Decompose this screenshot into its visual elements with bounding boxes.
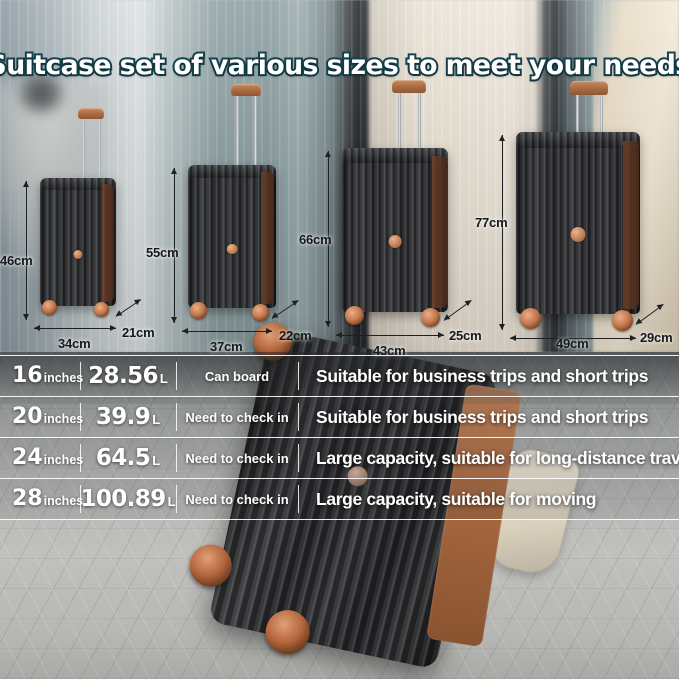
cell-boarding: Need to check in: [176, 492, 298, 507]
column-divider: [298, 485, 299, 513]
dimension-label-depth-24: 25cm: [449, 328, 481, 343]
suitcase-side-trim: [432, 156, 447, 308]
suitcase-lock-icon: [571, 227, 586, 242]
suitcase-wheel: [520, 308, 541, 329]
column-divider: [298, 403, 299, 431]
cell-boarding: Need to check in: [176, 410, 298, 425]
page-title: Suitcase set of various sizes to meet yo…: [0, 50, 679, 81]
suitcase-wheel: [421, 308, 440, 327]
table-row: 16 inches 28.56 L Can board Suitable for…: [0, 356, 679, 397]
size-value: 28: [12, 488, 43, 510]
telescoping-pole: [82, 116, 85, 180]
suitcase-wheel: [252, 304, 269, 321]
telescoping-pole: [98, 116, 101, 180]
cell-volume: 39.9 L: [80, 406, 176, 429]
column-divider: [80, 485, 81, 513]
suitcase-16-inch: [36, 178, 122, 326]
size-unit: inches: [44, 454, 84, 467]
cell-boarding: Can board: [176, 369, 298, 384]
dimension-label-depth-28: 29cm: [640, 330, 672, 345]
column-divider: [176, 485, 177, 513]
table-row: 24 inches 64.5 L Need to check in Large …: [0, 438, 679, 479]
volume-value: 64.5: [96, 447, 150, 470]
dimension-label-height-24: 66cm: [299, 232, 331, 247]
size-value: 20: [12, 406, 43, 428]
size-unit: inches: [44, 372, 84, 385]
telescoping-pole: [576, 92, 579, 134]
dimension-arrow-width-20: [182, 327, 272, 336]
column-divider: [298, 362, 299, 390]
dimension-label-width-16: 34cm: [58, 336, 90, 351]
column-divider: [80, 362, 81, 390]
size-unit: inches: [44, 495, 84, 508]
size-unit: inches: [44, 413, 84, 426]
column-divider: [80, 444, 81, 472]
dimension-label-height-20: 55cm: [146, 245, 178, 260]
telescoping-pole: [398, 90, 401, 150]
column-divider: [298, 444, 299, 472]
column-divider: [176, 362, 177, 390]
table-row: 20 inches 39.9 L Need to check in Suitab…: [0, 397, 679, 438]
dimension-label-width-28: 49cm: [556, 336, 588, 351]
dimension-label-width-20: 37cm: [210, 339, 242, 354]
cell-description: Large capacity, suitable for moving: [298, 489, 679, 510]
column-divider: [176, 403, 177, 431]
telescoping-pole: [418, 90, 421, 150]
cell-volume: 100.89 L: [80, 488, 176, 511]
cell-size: 24 inches: [0, 447, 80, 469]
suitcase-ribs: [516, 132, 640, 314]
suitcase-20-inch: [184, 165, 284, 327]
headline-band: Suitcase set of various sizes to meet yo…: [0, 44, 679, 86]
spec-table: 16 inches 28.56 L Can board Suitable for…: [0, 355, 679, 520]
column-divider: [80, 403, 81, 431]
dimension-label-height-16: 46cm: [0, 253, 32, 268]
column-divider: [176, 444, 177, 472]
cell-volume: 64.5 L: [80, 447, 176, 470]
cell-boarding: Need to check in: [176, 451, 298, 466]
dimension-label-depth-20: 22cm: [279, 328, 311, 343]
telescoping-pole: [236, 93, 239, 167]
cell-description: Large capacity, suitable for long-distan…: [298, 448, 679, 469]
volume-unit: L: [152, 413, 160, 426]
suitcase-wheel: [345, 306, 364, 325]
cell-size: 20 inches: [0, 406, 80, 428]
table-row: 28 inches 100.89 L Need to check in Larg…: [0, 479, 679, 520]
suitcase-side-trim: [623, 141, 639, 309]
volume-unit: L: [160, 372, 168, 385]
suitcase-side-trim: [261, 172, 274, 304]
cell-size: 28 inches: [0, 488, 80, 510]
dimension-label-depth-16: 21cm: [122, 325, 154, 340]
infographic-canvas: 46cm 34cm 21cm 55cm 37cm 22cm: [0, 0, 679, 679]
cell-description: Suitable for business trips and short tr…: [298, 407, 679, 428]
dimension-arrow-height-28: [498, 135, 507, 330]
telescoping-pole: [254, 93, 257, 167]
cell-size: 16 inches: [0, 365, 80, 387]
suitcase-24-inch: [338, 148, 458, 330]
suitcase-wheel: [42, 300, 57, 315]
cell-description: Suitable for business trips and short tr…: [298, 366, 679, 387]
volume-value: 39.9: [96, 406, 150, 429]
suitcase-wheel: [94, 302, 109, 317]
size-value: 24: [12, 447, 43, 469]
suitcase-handle: [78, 108, 104, 119]
cell-volume: 28.56 L: [80, 365, 176, 388]
volume-value: 28.56: [88, 365, 158, 388]
suitcase-wheel: [612, 310, 633, 331]
volume-unit: L: [168, 495, 176, 508]
suitcase-lock-icon: [227, 244, 238, 255]
suitcase-lock-icon: [389, 235, 402, 248]
suitcase-side-trim: [102, 184, 114, 302]
dimension-arrow-width-16: [34, 324, 116, 333]
suitcase-28-inch: [512, 132, 654, 332]
suitcase-wheel: [190, 302, 207, 319]
dimension-arrow-width-24: [336, 331, 444, 340]
dimension-arrow-height-16: [22, 181, 31, 320]
dimension-label-height-28: 77cm: [475, 215, 507, 230]
volume-value: 100.89: [80, 488, 165, 511]
telescoping-pole: [600, 92, 603, 134]
size-value: 16: [12, 365, 43, 387]
volume-unit: L: [152, 454, 160, 467]
suitcase-shell: [516, 132, 640, 314]
